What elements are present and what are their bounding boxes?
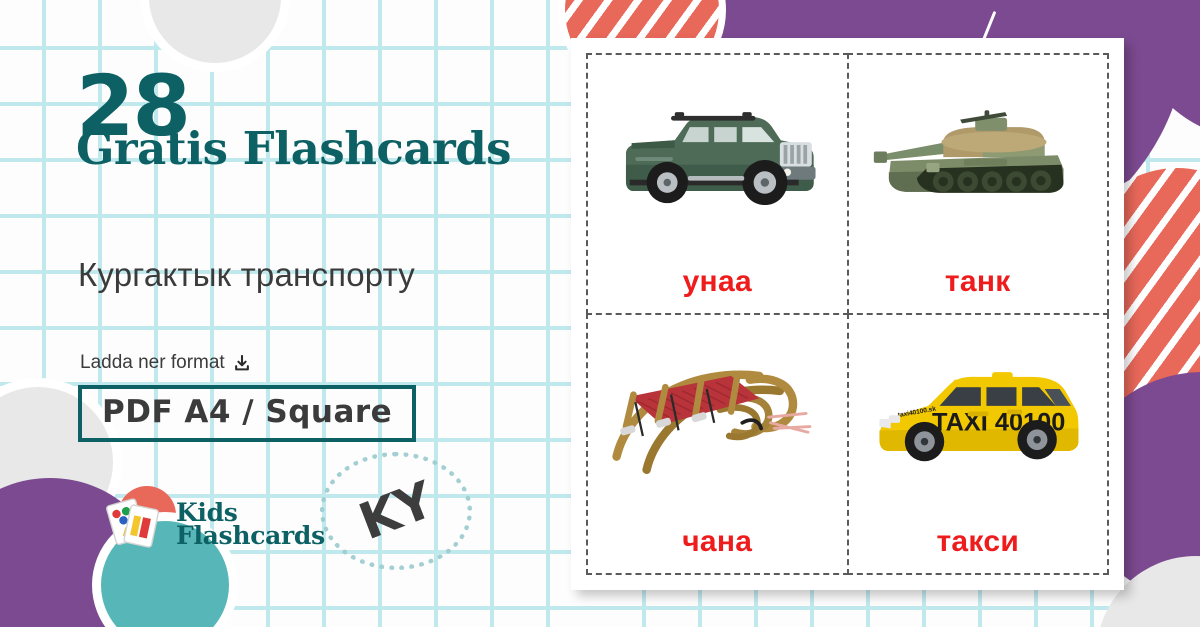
flashcards-stack-icon [105,495,167,553]
headline-subtitle: Gratis Flashcards [76,126,576,171]
flashcard-label: такси [936,525,1019,565]
download-format-text: Ladda ner format [80,352,225,374]
poster-canvas: 28 Gratis Flashcards Кургактык транспорт… [0,0,1200,627]
flashcards-grid: унаа [587,54,1108,574]
headline-block: 28 Gratis Flashcards [76,74,576,171]
download-format-label: Ladda ner format [80,352,251,374]
language-stamp: KY [320,452,472,570]
tank-image [849,55,1108,265]
sled-image [588,315,847,525]
brand-logo[interactable]: Kids Flashcards [105,495,325,553]
flashcard-taxi[interactable]: TAXI 40100 taxi40100.sk [847,313,1110,575]
format-button[interactable]: PDF A4 / Square [78,385,416,442]
flashcard-label: танк [945,265,1011,305]
flashcard-sled[interactable]: чана [586,313,849,575]
flashcard-label: унаа [683,265,752,305]
stamp-language-code: KY [304,429,488,594]
download-icon [233,354,251,373]
flashcards-preview-panel: унаа [571,38,1124,590]
taxi-image: TAXI 40100 taxi40100.sk [849,315,1108,525]
flashcard-label: чана [682,525,752,565]
flashcard-tank[interactable]: танк [847,53,1110,315]
suv-hummer-image [588,55,847,265]
brand-name: Kids Flashcards [176,501,325,548]
flashcard-unaa[interactable]: унаа [586,53,849,315]
brand-line-2: Flashcards [176,521,325,550]
page-title: Кургактык транспорту [78,256,415,294]
